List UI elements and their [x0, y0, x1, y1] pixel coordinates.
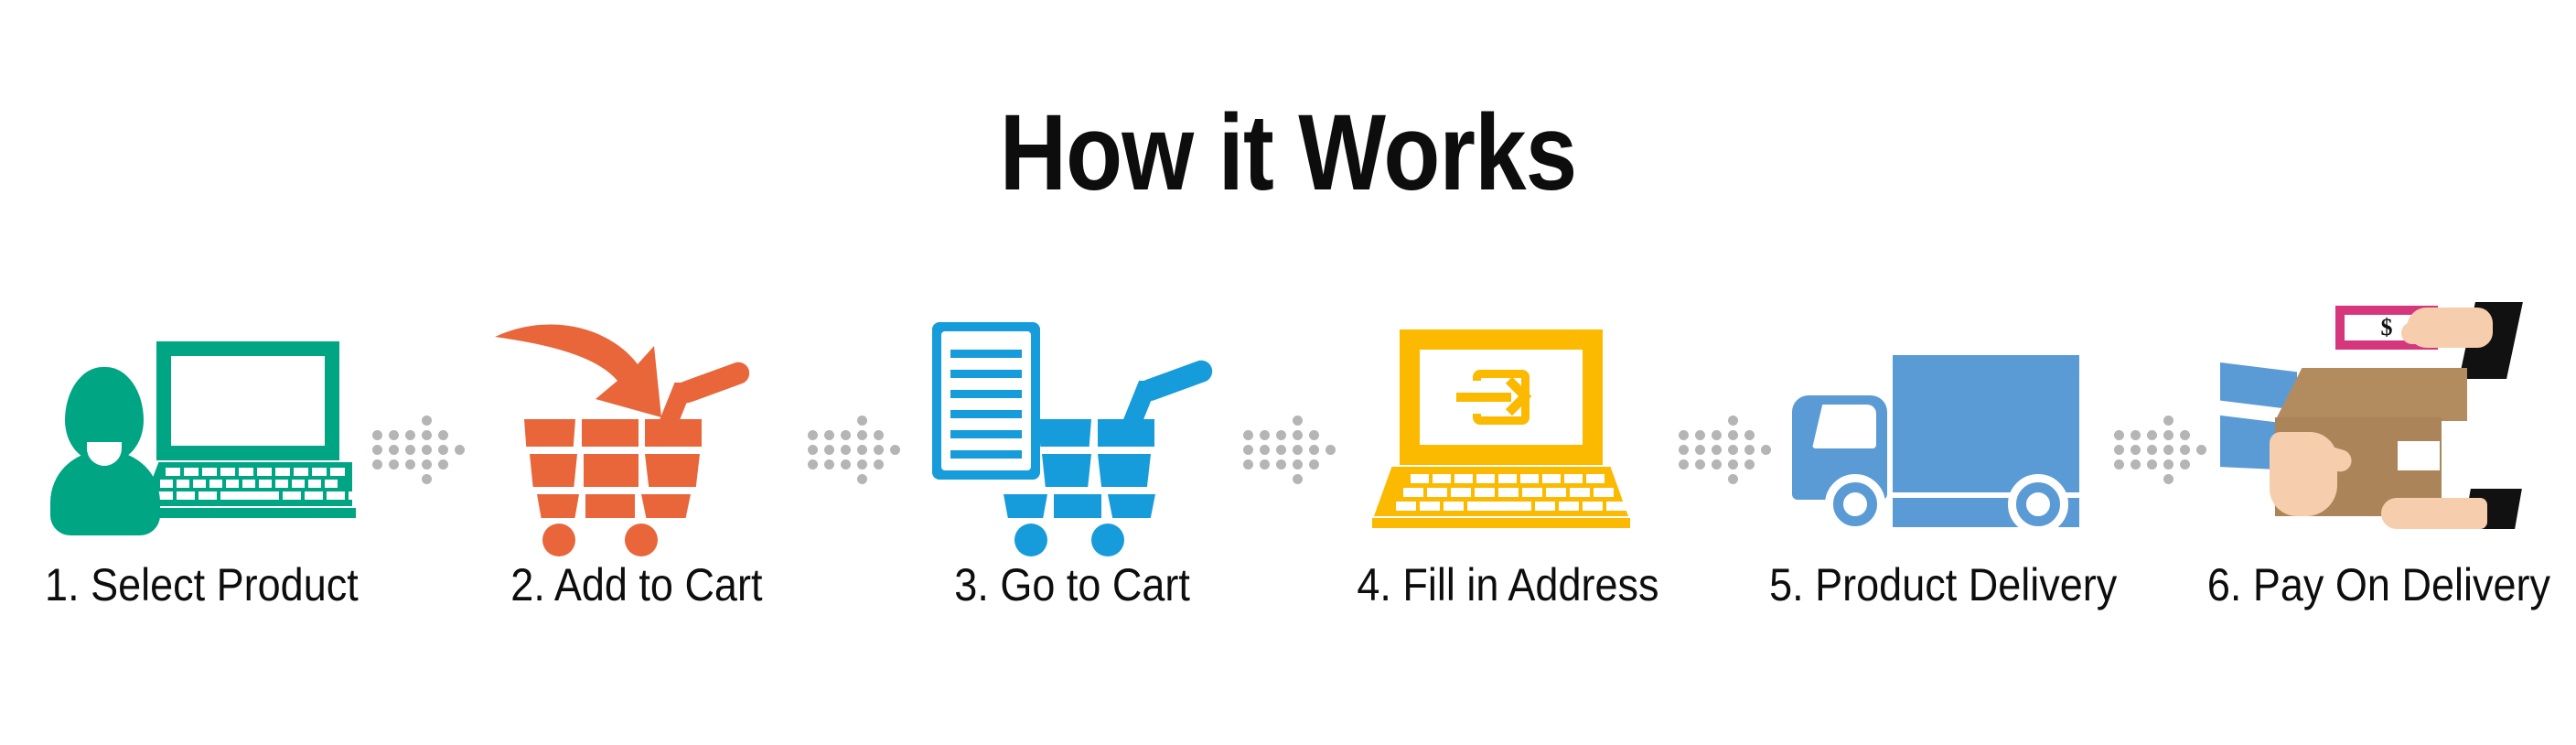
dotted-right-arrow-icon — [369, 302, 469, 531]
truck-wheel-rear-hub — [2020, 486, 2056, 523]
customer-hand-bottom — [2381, 498, 2487, 529]
step-1-select-product[interactable]: 1. Select Product — [37, 302, 366, 608]
step-1-label: 1. Select Product — [45, 562, 359, 608]
dotted-right-arrow-icon — [1240, 302, 1340, 531]
dotted-right-arrow-icon — [804, 302, 905, 531]
document-line-1 — [950, 350, 1022, 358]
cart-basket-row-2 — [530, 454, 700, 487]
cart-basket-row-2 — [1042, 454, 1151, 487]
parcel-box-top — [2275, 368, 2467, 421]
parcel-shipping-label — [2398, 441, 2440, 470]
dollar-sign-icon: $ — [2381, 314, 2393, 341]
truck-wheel-front-hub — [1837, 486, 1873, 523]
keyboard-row-1 — [1411, 474, 1605, 483]
step-2-add-to-cart[interactable]: 2. Add to Cart — [472, 302, 801, 608]
delivery-truck-icon — [1792, 348, 2094, 531]
arrow-dot-grid — [1243, 410, 1338, 474]
arrow-dot-grid — [808, 410, 903, 474]
document-line-5 — [950, 430, 1022, 438]
step-5-label: 5. Product Delivery — [1769, 562, 2117, 608]
step-6-pay-on-delivery[interactable]: $ 6. Pay On Delivery — [2214, 302, 2543, 608]
person-with-laptop-icon — [50, 334, 352, 531]
cart-basket-row-3 — [537, 494, 691, 518]
keyboard-row-2 — [1403, 488, 1614, 497]
step-5-product-delivery[interactable]: 5. Product Delivery — [1778, 302, 2108, 608]
arrow-dot-grid — [372, 410, 467, 474]
cart-basket-row-3 — [1004, 494, 1155, 518]
cart-handle-bar — [1135, 357, 1215, 404]
keyboard-row-3 — [1396, 502, 1626, 511]
document-line-6 — [950, 450, 1022, 459]
cart-handle-bar — [672, 359, 752, 405]
keyboard-row-1 — [166, 468, 345, 476]
hands-exchanging-box-and-money-icon: $ — [2227, 302, 2529, 531]
step-5-icon-box — [1787, 302, 2098, 531]
cart-wheel-left — [1014, 524, 1047, 556]
arrow-dot-grid — [2114, 410, 2209, 474]
dotted-right-arrow-icon — [2110, 302, 2211, 531]
step-1-icon-box — [46, 302, 357, 531]
document-line-4 — [950, 410, 1022, 418]
step-4-fill-in-address[interactable]: 4. Fill in Address — [1343, 302, 1672, 608]
dotted-right-arrow-icon — [1675, 302, 1776, 531]
page-title: How it Works — [180, 99, 2396, 207]
step-3-go-to-cart[interactable]: 3. Go to Cart — [907, 302, 1237, 608]
cart-wheel-right — [625, 524, 658, 556]
how-it-works-infographic: How it Works — [0, 0, 2576, 745]
step-4-icon-box — [1352, 302, 1663, 531]
step-3-label: 3. Go to Cart — [954, 562, 1190, 608]
step-6-icon-box: $ — [2223, 302, 2534, 531]
step-2-icon-box — [481, 302, 792, 531]
arrow-into-shopping-cart-icon — [486, 320, 788, 531]
cart-wheel-right — [1091, 524, 1124, 556]
cart-wheel-left — [542, 524, 575, 556]
curved-down-arrow-icon — [493, 320, 667, 423]
document-line-2 — [950, 370, 1022, 378]
document-with-cart-icon — [921, 320, 1223, 531]
steps-strip: 1. Select Product — [37, 302, 2543, 696]
laptop-screen — [171, 356, 325, 446]
step-2-label: 2. Add to Cart — [510, 562, 762, 608]
document-line-3 — [950, 390, 1022, 398]
laptop-base — [1372, 518, 1630, 528]
keyboard-row-3 — [155, 491, 367, 500]
keyboard-row-2 — [160, 480, 338, 488]
step-4-label: 4. Fill in Address — [1357, 562, 1658, 608]
truck-cargo-box — [1893, 355, 2079, 492]
step-6-label: 6. Pay On Delivery — [2206, 562, 2549, 608]
arrow-dot-grid — [1679, 410, 1774, 474]
laptop-base — [138, 508, 356, 518]
truck-window — [1812, 405, 1876, 448]
customer-fingers-top — [2401, 322, 2449, 344]
laptop-login-icon — [1370, 329, 1645, 531]
step-3-icon-box — [917, 302, 1228, 531]
